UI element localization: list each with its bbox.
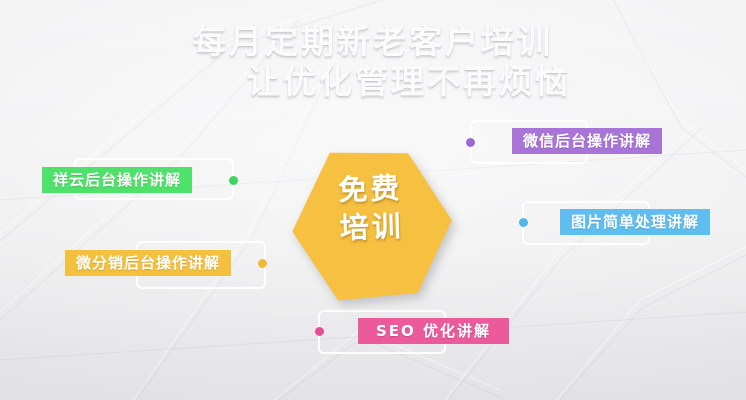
topic-text-seo: SEO 优化讲解	[376, 322, 491, 340]
topic-label-weixin[interactable]: 微信后台操作讲解	[512, 128, 662, 154]
center-hexagon[interactable]: 免费 培训	[288, 146, 454, 304]
connector-dot-xiangyun	[229, 176, 238, 185]
connector-dot-tupian	[519, 218, 528, 227]
topic-text-tupian: 图片简单处理讲解	[571, 213, 699, 231]
topic-text-weixin: 微信后台操作讲解	[523, 132, 651, 150]
topic-label-tupian[interactable]: 图片简单处理讲解	[560, 209, 710, 235]
connector-dot-seo	[315, 327, 324, 336]
title-line-2: 让优化管理不再烦恼	[0, 62, 746, 102]
topic-label-xiangyun[interactable]: 祥云后台操作讲解	[42, 167, 192, 193]
connector-dot-weixin	[466, 138, 475, 147]
topic-label-seo[interactable]: SEO 优化讲解	[358, 318, 509, 344]
topic-label-weifenxiao[interactable]: 微分销后台操作讲解	[65, 250, 231, 276]
title-line-1: 每月定期新老客户培训	[0, 22, 746, 62]
page-title: 每月定期新老客户培训 让优化管理不再烦恼	[0, 22, 746, 102]
hexagon-shape	[283, 140, 460, 309]
topic-text-xiangyun: 祥云后台操作讲解	[53, 171, 181, 189]
promo-banner: 每月定期新老客户培训 让优化管理不再烦恼 免费 培训 祥云后台操作讲解 微信后台…	[0, 0, 746, 400]
connector-dot-weifenxiao	[258, 259, 267, 268]
topic-text-weifenxiao: 微分销后台操作讲解	[76, 254, 220, 272]
